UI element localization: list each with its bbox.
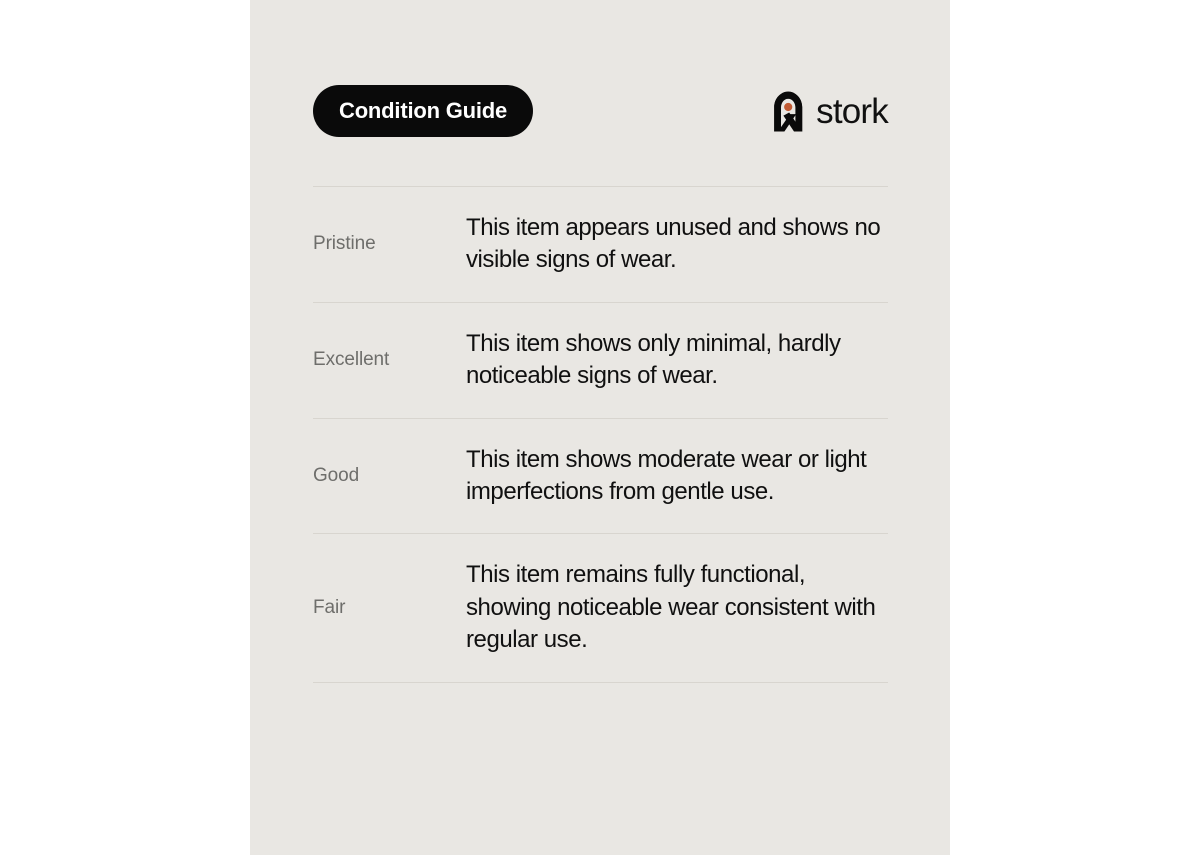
brand-logo[interactable]: stork [771, 90, 888, 132]
condition-label-fair: Fair [313, 597, 466, 620]
table-row: Fair This item remains fully functional,… [313, 534, 888, 681]
stork-arch-logo-icon [771, 90, 805, 132]
condition-label-pristine: Pristine [313, 233, 466, 256]
condition-description-pristine: This item appears unused and shows no vi… [466, 212, 884, 277]
condition-guide-title-pill[interactable]: Condition Guide [313, 85, 533, 137]
table-row: Excellent This item shows only minimal, … [313, 303, 888, 418]
table-row: Pristine This item appears unused and sh… [313, 187, 888, 302]
condition-label-excellent: Excellent [313, 349, 466, 372]
page-root: Condition Guide stork [0, 0, 1200, 855]
table-row: Good This item shows moderate wear or li… [313, 419, 888, 534]
brand-wordmark: stork [816, 94, 888, 129]
condition-label-good: Good [313, 465, 466, 488]
condition-description-good: This item shows moderate wear or light i… [466, 444, 884, 509]
card-header: Condition Guide stork [313, 85, 888, 137]
condition-description-fair: This item remains fully functional, show… [466, 559, 884, 656]
divider-bottom [313, 682, 888, 683]
condition-guide-title-label: Condition Guide [339, 100, 507, 122]
condition-guide-table: Pristine This item appears unused and sh… [313, 186, 888, 683]
condition-guide-card: Condition Guide stork [250, 0, 950, 855]
condition-description-excellent: This item shows only minimal, hardly not… [466, 328, 884, 393]
